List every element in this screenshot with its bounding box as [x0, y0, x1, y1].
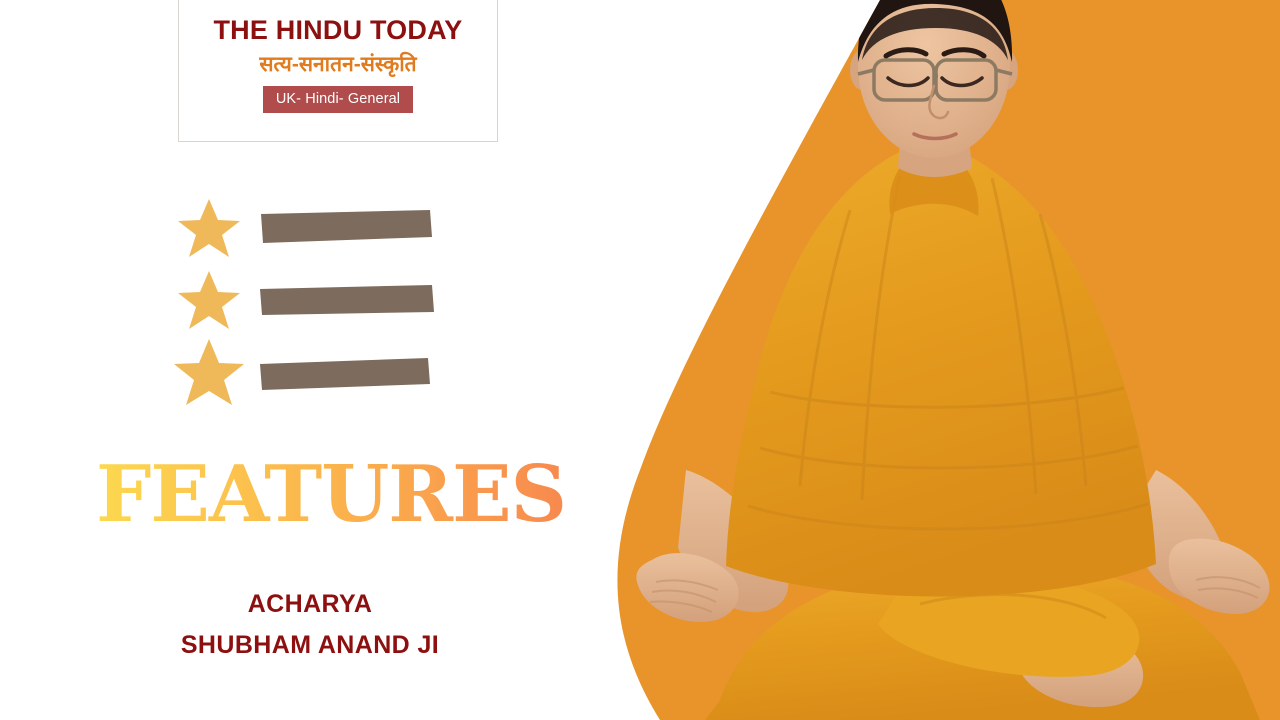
- bullet-list: [178, 196, 598, 412]
- poster-canvas: THE HINDU TODAY सत्य-सनातन-संस्कृति UK- …: [0, 0, 1280, 720]
- portrait-panel: [600, 0, 1280, 720]
- star-icon: [178, 196, 240, 258]
- speaker-name-line1: ACHARYA: [60, 584, 560, 625]
- list-item: [178, 268, 598, 340]
- star-icon: [174, 336, 244, 406]
- speaker-name: ACHARYA SHUBHAM ANAND JI: [60, 584, 560, 665]
- features-label: FEATURES: [96, 455, 566, 535]
- features-wordmark: FEATURES: [96, 455, 566, 535]
- list-item: [178, 340, 598, 412]
- star-icon: [178, 268, 240, 330]
- placeholder-bar: [260, 358, 430, 390]
- masthead-card: THE HINDU TODAY सत्य-सनातन-संस्कृति UK- …: [178, 0, 498, 142]
- masthead-subtitle: सत्य-सनातन-संस्कृति: [179, 53, 497, 76]
- placeholder-bar: [260, 210, 432, 244]
- list-item: [178, 196, 598, 268]
- placeholder-bar: [260, 284, 434, 316]
- masthead-category-badge: UK- Hindi- General: [263, 86, 413, 113]
- masthead-title: THE HINDU TODAY: [179, 16, 497, 46]
- speaker-name-line2: SHUBHAM ANAND JI: [60, 625, 560, 666]
